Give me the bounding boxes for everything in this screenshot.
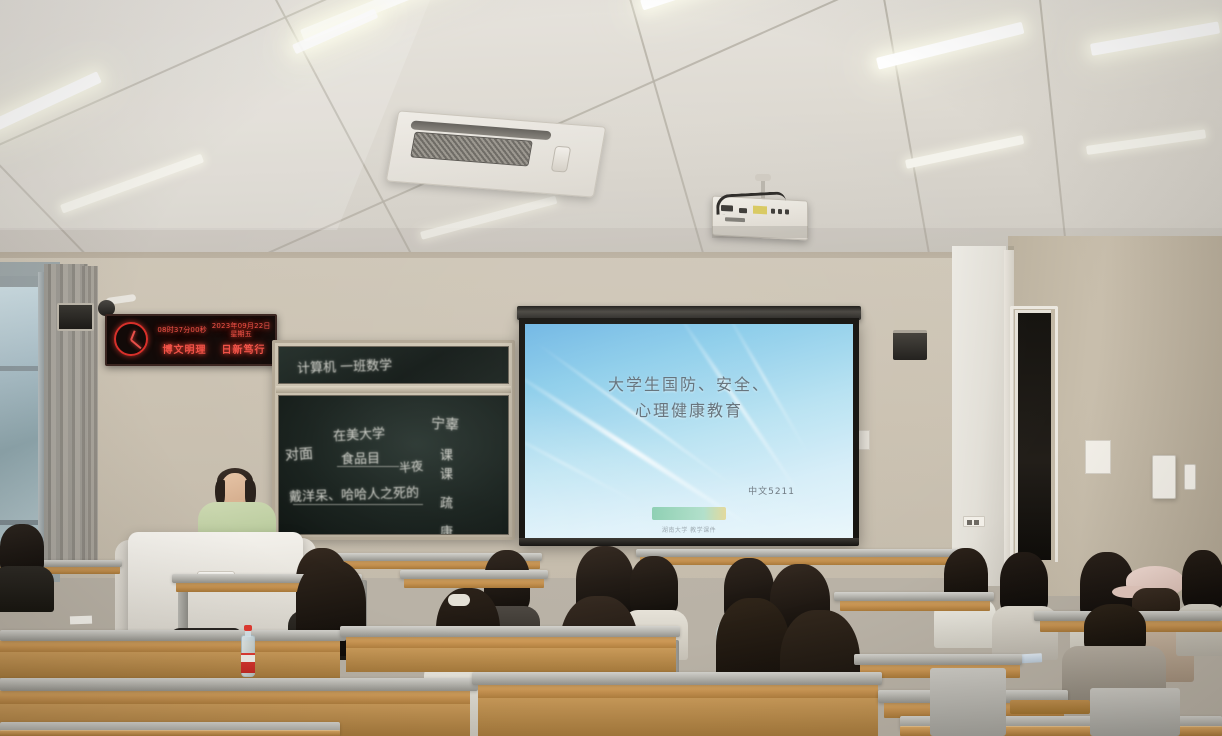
wall-pillar [952, 246, 1008, 586]
blackboard-upper-panel: 计算机 一班数学 [278, 346, 509, 384]
slide-title-line2: 心理健康教育 [525, 398, 853, 424]
analog-clock-icon [107, 316, 153, 364]
window-mullion [0, 366, 40, 371]
hair-clip [448, 594, 470, 606]
chalk-text: 对面 [284, 443, 313, 465]
ceiling-light-fixture [1090, 21, 1220, 55]
ceiling-light-fixture [1086, 129, 1206, 155]
seat-back [1090, 688, 1180, 736]
slide-logo [652, 507, 726, 520]
ceiling-light-fixture [876, 22, 1024, 70]
led-clock-board: 08时37分00秒 2023年09月22日 星期五 博文明理 日新笃行 [105, 314, 277, 366]
led-weekday: 星期五 [230, 330, 252, 338]
chalk-text: 戴洋呆、哈哈人之死的 [289, 482, 420, 506]
wall-control-panel[interactable] [1152, 455, 1176, 499]
chalk-text: 半夜 [398, 457, 424, 476]
led-motto-left: 博文明理 [163, 345, 207, 357]
paper-sheet [70, 616, 92, 625]
blackboard-chalk-rail [276, 386, 511, 393]
projector-cables [716, 191, 787, 215]
ceiling-light-fixture [640, 0, 786, 10]
chalk-text: 食品目 [341, 448, 380, 468]
led-date: 2023年09月22日 [212, 322, 271, 330]
wall-speaker-left [57, 303, 94, 331]
classroom-doorway[interactable] [1015, 310, 1051, 560]
seat-back [930, 668, 1006, 736]
slide-title-line1: 大学生国防、安全、 [525, 372, 853, 398]
projection-screen[interactable]: 大学生国防、安全、 心理健康教育 中文5211 湖南大学 教学课件 [525, 324, 853, 538]
slide-footer: 湖南大学 教学课件 [525, 525, 853, 534]
blackboard: 对面 在美大学 食品目 宁辜 半夜 戴洋呆、哈哈人之死的 课课 疏 康 作 [278, 395, 509, 535]
chalk-text: 课课 疏 康 作 [435, 448, 454, 535]
chalk-text: 在美大学 [333, 423, 386, 445]
chalk-text: 计算机 一班数学 [297, 354, 393, 376]
led-motto-right: 日新笃行 [222, 345, 266, 357]
classroom-photo: 08时37分00秒 2023年09月22日 星期五 博文明理 日新笃行 计算机 … [0, 0, 1222, 736]
seat-cushion [1010, 700, 1090, 714]
slide-title: 大学生国防、安全、 心理健康教育 [525, 372, 853, 424]
projector-shadow [712, 226, 808, 238]
projection-screen-bottom-bar [519, 538, 859, 546]
light-switch[interactable] [1184, 464, 1196, 490]
wall-corner-edge [1004, 250, 1014, 590]
projection-screen-frame: 大学生国防、安全、 心理健康教育 中文5211 湖南大学 教学课件 [519, 318, 859, 544]
wall-notice [1085, 440, 1111, 474]
slide-subtitle: 中文5211 [748, 484, 795, 497]
wall-outlet[interactable] [963, 516, 985, 527]
ac-louver [551, 146, 572, 173]
led-time: 08时37分00秒 [157, 326, 207, 334]
window-glass [0, 286, 40, 558]
wall-speaker-right [893, 330, 927, 360]
ceiling-light-fixture [905, 135, 1024, 169]
chalk-text: 宁辜 [430, 413, 459, 435]
plastic-water-bottle[interactable] [241, 625, 255, 677]
